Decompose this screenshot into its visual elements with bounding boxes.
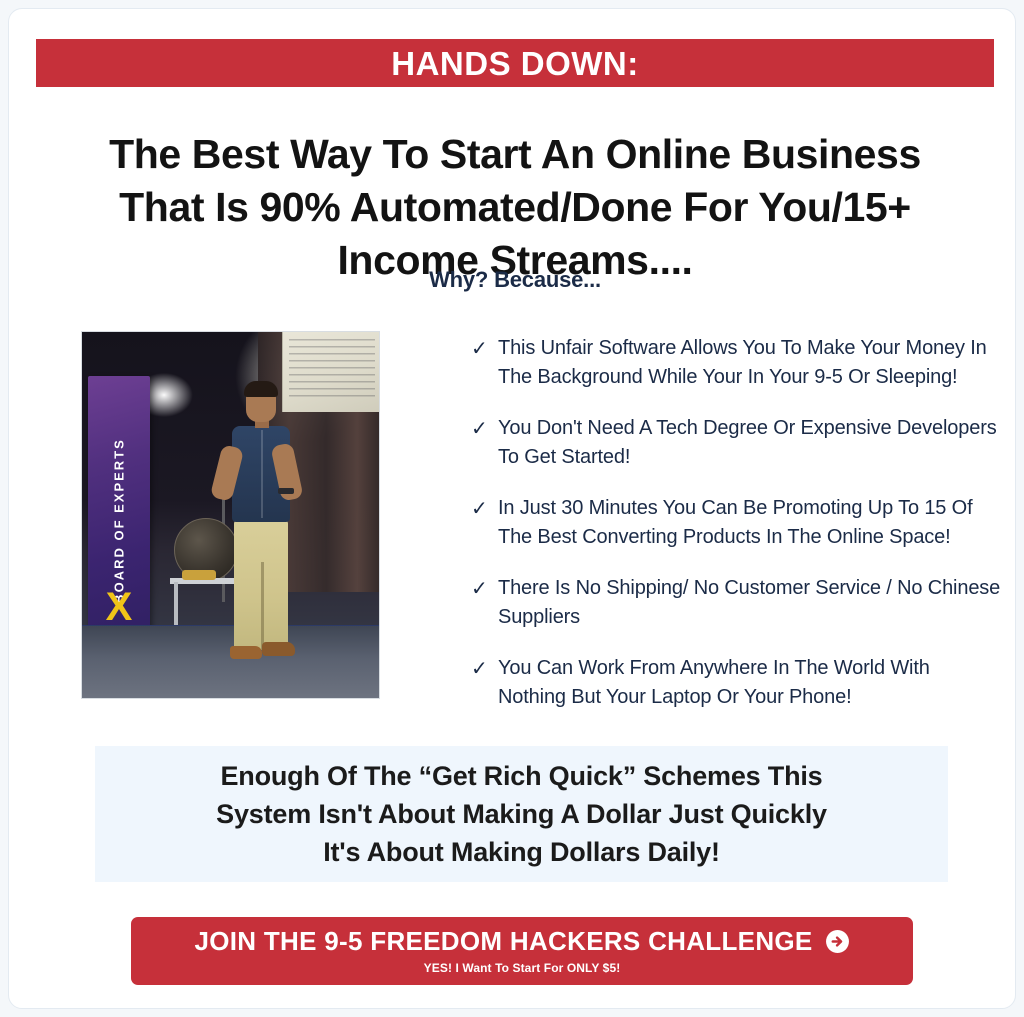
check-icon: ✓	[471, 494, 498, 523]
speaker-shoe-right	[262, 642, 295, 656]
speaker-trousers	[234, 518, 288, 650]
benefit-text: In Just 30 Minutes You Can Be Promoting …	[498, 494, 1001, 552]
check-icon: ✓	[471, 574, 498, 603]
board-of-experts-banner: BOARD OF EXPERTS X	[88, 376, 150, 666]
content-row: BOARD OF EXPERTS X	[9, 329, 1015, 729]
check-icon: ✓	[471, 414, 498, 443]
headline-line-1: The Best Way To Start An Online Business	[36, 128, 994, 181]
headline-line-2: That Is 90% Automated/Done For You/15+	[36, 181, 994, 234]
callout-line-2: System Isn't About Making A Dollar Just …	[216, 795, 827, 833]
hands-down-banner: HANDS DOWN:	[36, 39, 994, 87]
cta-label: JOIN THE 9-5 FREEDOM HACKERS CHALLENGE	[194, 928, 812, 954]
join-challenge-button[interactable]: JOIN THE 9-5 FREEDOM HACKERS CHALLENGE Y…	[131, 917, 913, 985]
speaker-figure	[210, 384, 306, 684]
benefit-text: There Is No Shipping/ No Customer Servic…	[498, 574, 1001, 632]
callout-line-3: It's About Making Dollars Daily!	[216, 833, 827, 871]
page-headline: The Best Way To Start An Online Business…	[36, 128, 994, 287]
list-item: ✓ This Unfair Software Allows You To Mak…	[471, 334, 1001, 392]
speaker-photo: BOARD OF EXPERTS X	[81, 331, 380, 699]
benefit-text: You Can Work From Anywhere In The World …	[498, 654, 1001, 712]
list-item: ✓ You Can Work From Anywhere In The Worl…	[471, 654, 1001, 712]
cta-main-row: JOIN THE 9-5 FREEDOM HACKERS CHALLENGE	[194, 928, 849, 954]
speaker-shoe-left	[230, 646, 262, 659]
list-item: ✓ In Just 30 Minutes You Can Be Promotin…	[471, 494, 1001, 552]
benefit-text: You Don't Need A Tech Degree Or Expensiv…	[498, 414, 1001, 472]
callout-line-1: Enough Of The “Get Rich Quick” Schemes T…	[216, 757, 827, 795]
cta-sublabel: YES! I Want To Start For ONLY $5!	[424, 962, 621, 974]
benefit-text: This Unfair Software Allows You To Make …	[498, 334, 1001, 392]
arrow-right-circle-icon	[825, 929, 850, 954]
callout-box: Enough Of The “Get Rich Quick” Schemes T…	[95, 746, 948, 882]
speaker-watch	[278, 488, 294, 494]
x-logo-icon: X	[102, 590, 136, 624]
list-item: ✓ There Is No Shipping/ No Customer Serv…	[471, 574, 1001, 632]
check-icon: ✓	[471, 334, 498, 363]
check-icon: ✓	[471, 654, 498, 683]
list-item: ✓ You Don't Need A Tech Degree Or Expens…	[471, 414, 1001, 472]
kicker-text: HANDS DOWN:	[391, 47, 638, 80]
page-canvas: HANDS DOWN: The Best Way To Start An Onl…	[0, 0, 1024, 1017]
benefits-list: ✓ This Unfair Software Allows You To Mak…	[471, 334, 1001, 712]
callout-text: Enough Of The “Get Rich Quick” Schemes T…	[216, 757, 827, 871]
banner-text: BOARD OF EXPERTS	[112, 438, 127, 604]
subheadline: Why? Because...	[36, 267, 994, 293]
landing-page-card: HANDS DOWN: The Best Way To Start An Onl…	[8, 8, 1016, 1009]
photo-background: BOARD OF EXPERTS X	[82, 332, 379, 698]
speaker-hair	[244, 381, 278, 397]
